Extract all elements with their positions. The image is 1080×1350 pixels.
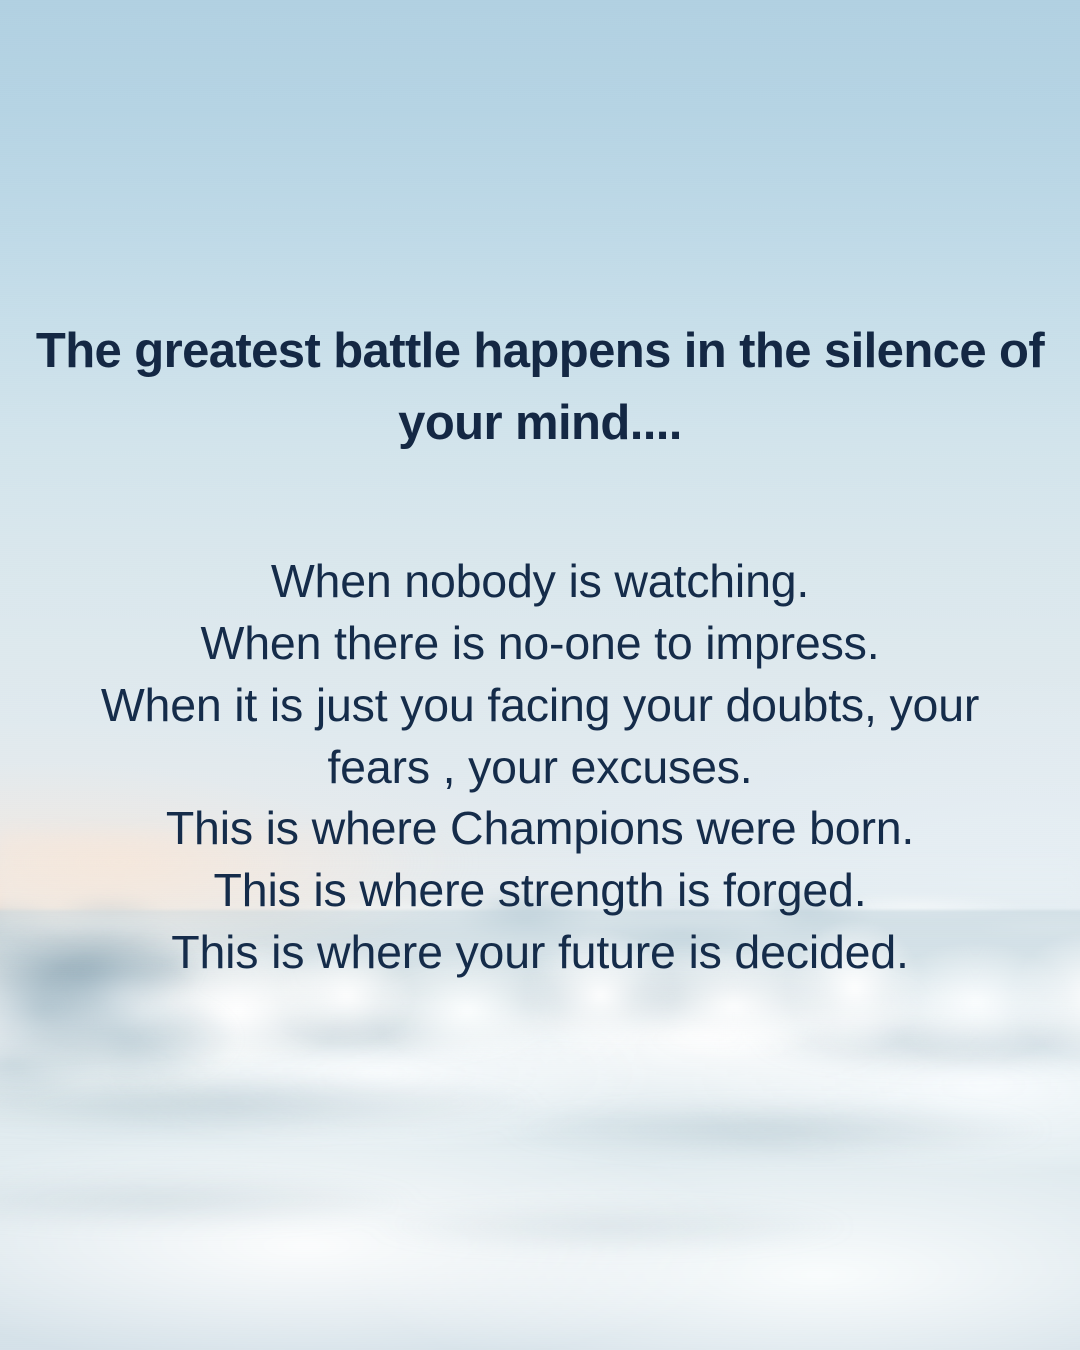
quote-text-block: The greatest battle happens in the silen… [0,316,1080,984]
quote-body: When nobody is watching. When there is n… [0,551,1080,984]
body-line: When there is no-one to impress. [14,613,1066,675]
body-line: This is where your future is decided. [14,922,1066,984]
body-line: This is where Champions were born. [14,798,1066,860]
body-line: This is where strength is forged. [14,860,1066,922]
body-line: fears , your excuses. [14,737,1066,799]
body-line: When nobody is watching. [14,551,1066,613]
quote-headline: The greatest battle happens in the silen… [0,316,1080,459]
headline-body-spacer [0,459,1080,551]
body-line: When it is just you facing your doubts, … [14,675,1066,737]
quote-poster: The greatest battle happens in the silen… [0,0,1080,1350]
headline-line: The greatest battle happens in the silen… [36,324,986,378]
